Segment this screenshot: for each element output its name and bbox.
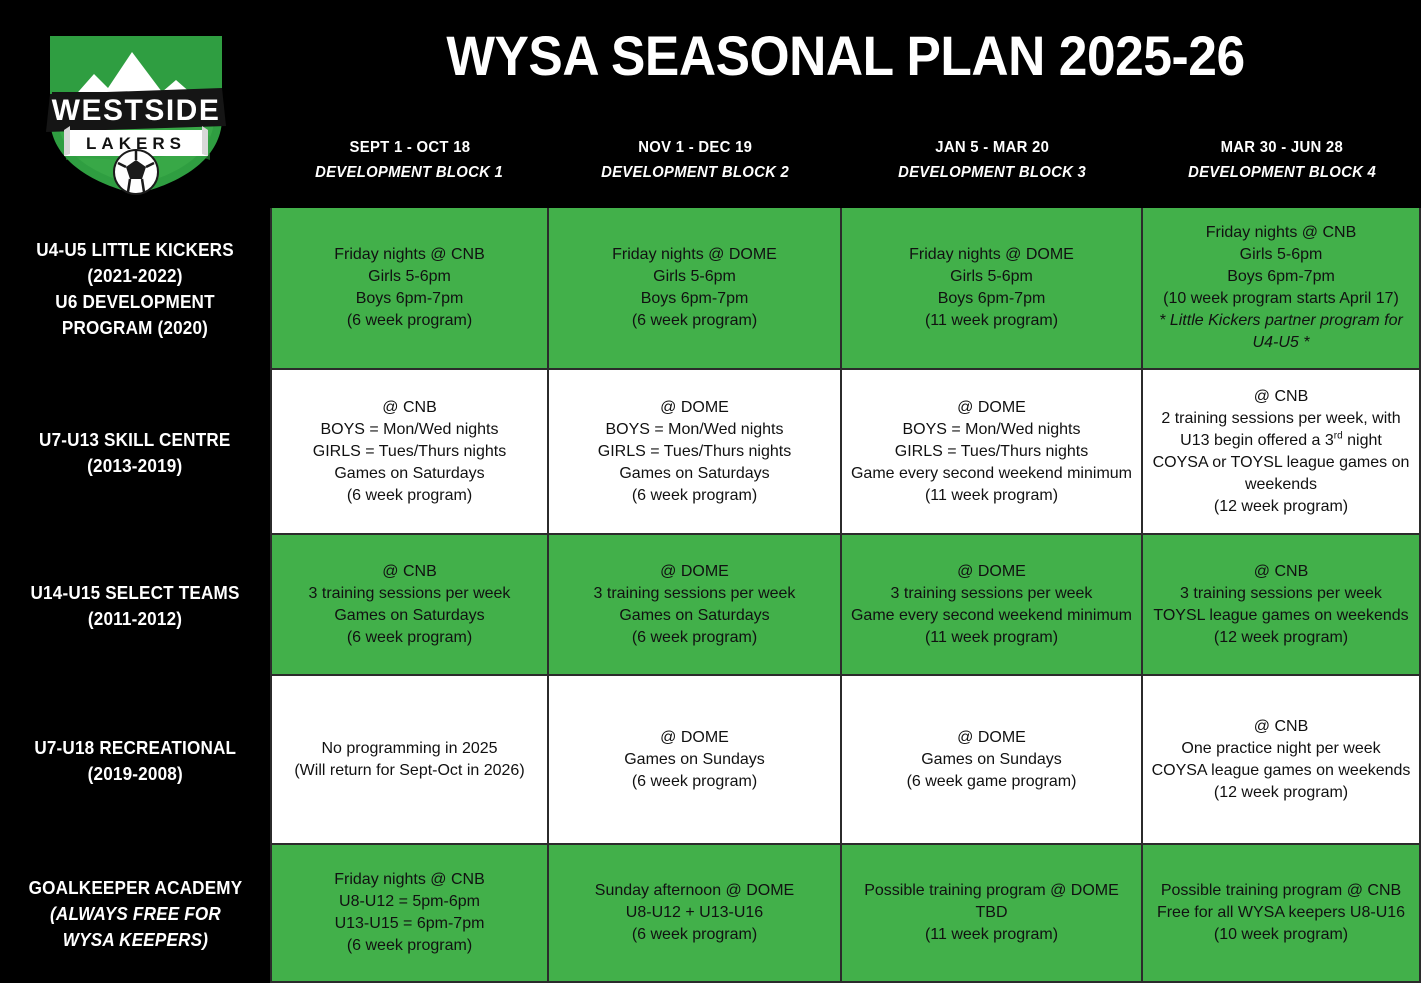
row-label-line: WYSA KEEPERS) (28, 927, 242, 953)
column-header-1: SEPT 1 - OCT 18 DEVELOPMENT BLOCK 1 (270, 138, 549, 200)
cell-line: (11 week program) (850, 485, 1133, 507)
cell-r2-c1: @ CNBBOYS = Mon/Wed nightsGIRLS = Tues/T… (270, 370, 549, 535)
cell-r3-c4: @ CNB3 training sessions per weekTOYSL l… (1143, 535, 1421, 676)
cell-line: Girls 5-6pm (1151, 244, 1411, 266)
cell-line: Friday nights @ CNB (280, 869, 539, 891)
cell-line: Game every second weekend minimum (850, 463, 1133, 485)
cell-r5-c4: Possible training program @ CNBFree for … (1143, 845, 1421, 983)
cell-line: Girls 5-6pm (280, 266, 539, 288)
cell-line: BOYS = Mon/Wed nights (557, 419, 832, 441)
cell-line: Game every second weekend minimum (850, 605, 1133, 627)
cell-line: (12 week program) (1151, 627, 1411, 649)
cell-r4-c2: @ DOMEGames on Sundays(6 week program) (549, 676, 842, 845)
row-label-1: U4-U5 LITTLE KICKERS(2021-2022)U6 DEVELO… (0, 208, 270, 370)
cell-line: @ DOME (850, 561, 1133, 583)
cell-r3-c2: @ DOME3 training sessions per weekGames … (549, 535, 842, 676)
cell-line: Girls 5-6pm (557, 266, 832, 288)
cell-line: COYSA or TOYSL league games on weekends (1151, 452, 1411, 496)
cell-line: Games on Sundays (850, 749, 1133, 771)
cell-line: TOYSL league games on weekends (1151, 605, 1411, 627)
cell-line: Possible training program @ DOME (850, 880, 1133, 902)
cell-line: GIRLS = Tues/Thurs nights (850, 441, 1133, 463)
seasonal-plan-grid: U4-U5 LITTLE KICKERS(2021-2022)U6 DEVELO… (0, 208, 1421, 983)
column-headers: SEPT 1 - OCT 18 DEVELOPMENT BLOCK 1 NOV … (270, 138, 1421, 200)
cell-line: 3 training sessions per week (1151, 583, 1411, 605)
cell-line: (6 week program) (557, 485, 832, 507)
cell-r2-c3: @ DOMEBOYS = Mon/Wed nightsGIRLS = Tues/… (842, 370, 1143, 535)
row-label-line: U7-U13 SKILL CENTRE (39, 427, 230, 453)
cell-line: Friday nights @ CNB (280, 244, 539, 266)
cell-r2-c2: @ DOMEBOYS = Mon/Wed nightsGIRLS = Tues/… (549, 370, 842, 535)
cell-line: Games on Saturdays (557, 463, 832, 485)
cell-line: Possible training program @ CNB (1151, 880, 1411, 902)
cell-line: @ CNB (1151, 386, 1411, 408)
cell-line: One practice night per week (1151, 738, 1411, 760)
cell-r1-c4: Friday nights @ CNBGirls 5-6pmBoys 6pm-7… (1143, 208, 1421, 370)
cell-line: No programming in 2025 (280, 738, 539, 760)
cell-line: Games on Sundays (557, 749, 832, 771)
cell-line: Games on Saturdays (280, 463, 539, 485)
cell-line: U8-U12 = 5pm-6pm (280, 891, 539, 913)
cell-line: BOYS = Mon/Wed nights (280, 419, 539, 441)
cell-line: (11 week program) (850, 627, 1133, 649)
cell-line: (6 week game program) (850, 771, 1133, 793)
cell-line: Boys 6pm-7pm (557, 288, 832, 310)
row-label-line: U4-U5 LITTLE KICKERS (36, 237, 234, 263)
cell-line: (6 week program) (557, 627, 832, 649)
cell-line: Friday nights @ DOME (557, 244, 832, 266)
cell-r5-c1: Friday nights @ CNBU8-U12 = 5pm-6pmU13-U… (270, 845, 549, 983)
cell-line: @ DOME (850, 727, 1133, 749)
cell-line: (10 week program) (1151, 924, 1411, 946)
row-label-4: U7-U18 RECREATIONAL(2019-2008) (0, 676, 270, 845)
cell-line: @ CNB (280, 561, 539, 583)
cell-line: Games on Saturdays (280, 605, 539, 627)
cell-r5-c3: Possible training program @ DOMETBD(11 w… (842, 845, 1143, 983)
cell-r4-c4: @ CNBOne practice night per weekCOYSA le… (1143, 676, 1421, 845)
cell-r1-c1: Friday nights @ CNBGirls 5-6pmBoys 6pm-7… (270, 208, 549, 370)
cell-line: Free for all WYSA keepers U8-U16 (1151, 902, 1411, 924)
seasonal-plan-poster: WESTSIDE LAKERS WYSA SEASONAL PLAN 2025-… (0, 0, 1421, 983)
row-label-5: GOALKEEPER ACADEMY(ALWAYS FREE FORWYSA K… (0, 845, 270, 983)
row-label-line: (ALWAYS FREE FOR (28, 901, 242, 927)
cell-line: 3 training sessions per week (557, 583, 832, 605)
row-label-line: U14-U15 SELECT TEAMS (30, 580, 239, 606)
cell-line: (6 week program) (280, 935, 539, 957)
cell-line: @ CNB (1151, 561, 1411, 583)
cell-line: Sunday afternoon @ DOME (557, 880, 832, 902)
row-label-line: (2021-2022) (36, 263, 234, 289)
cell-line: 3 training sessions per week (280, 583, 539, 605)
cell-line: @ DOME (557, 727, 832, 749)
page-title: WYSA SEASONAL PLAN 2025-26 (316, 24, 1375, 88)
soccer-ball-icon (114, 150, 158, 194)
westside-lakers-logo: WESTSIDE LAKERS (36, 22, 236, 198)
cell-r4-c3: @ DOMEGames on Sundays(6 week game progr… (842, 676, 1143, 845)
cell-line: @ DOME (850, 397, 1133, 419)
cell-line: U13-U15 = 6pm-7pm (280, 913, 539, 935)
cell-line: GIRLS = Tues/Thurs nights (557, 441, 832, 463)
cell-line: BOYS = Mon/Wed nights (850, 419, 1133, 441)
cell-line: GIRLS = Tues/Thurs nights (280, 441, 539, 463)
cell-line: (12 week program) (1151, 496, 1411, 518)
cell-line: 3 training sessions per week (850, 583, 1133, 605)
cell-r4-c1: No programming in 2025(Will return for S… (270, 676, 549, 845)
column-dates: NOV 1 - DEC 19 (639, 138, 753, 158)
cell-line: Games on Saturdays (557, 605, 832, 627)
cell-r2-c4: @ CNB2 training sessions per week, withU… (1143, 370, 1421, 535)
cell-line: (11 week program) (850, 924, 1133, 946)
cell-line: Boys 6pm-7pm (1151, 266, 1411, 288)
cell-line: Friday nights @ DOME (850, 244, 1133, 266)
cell-line: (10 week program starts April 17) (1151, 288, 1411, 310)
column-dates: MAR 30 - JUN 28 (1221, 138, 1343, 158)
row-label-line: U7-U18 RECREATIONAL (34, 735, 236, 761)
column-header-4: MAR 30 - JUN 28 DEVELOPMENT BLOCK 4 (1143, 138, 1421, 200)
cell-line-italic: * Little Kickers partner program for U4-… (1151, 310, 1411, 354)
column-block-label: DEVELOPMENT BLOCK 2 (601, 163, 789, 183)
cell-line: @ DOME (557, 561, 832, 583)
cell-line: (6 week program) (280, 310, 539, 332)
row-label-line: GOALKEEPER ACADEMY (28, 875, 242, 901)
cell-line: TBD (850, 902, 1133, 924)
cell-line: @ CNB (280, 397, 539, 419)
cell-line: (6 week program) (557, 924, 832, 946)
column-block-label: DEVELOPMENT BLOCK 4 (1188, 163, 1376, 183)
row-label-line: U6 DEVELOPMENT (36, 289, 234, 315)
cell-line: (6 week program) (557, 771, 832, 793)
column-dates: SEPT 1 - OCT 18 (349, 138, 470, 158)
cell-r3-c3: @ DOME3 training sessions per weekGame e… (842, 535, 1143, 676)
column-block-label: DEVELOPMENT BLOCK 1 (315, 163, 503, 183)
logo-westside-text: WESTSIDE (52, 94, 221, 127)
cell-line: U13 begin offered a 3rd night (1151, 430, 1411, 452)
cell-line: @ DOME (557, 397, 832, 419)
cell-line: COYSA league games on weekends (1151, 760, 1411, 782)
cell-line: Friday nights @ CNB (1151, 222, 1411, 244)
row-label-line: (2019-2008) (34, 761, 236, 787)
cell-r1-c2: Friday nights @ DOMEGirls 5-6pmBoys 6pm-… (549, 208, 842, 370)
cell-line: 2 training sessions per week, with (1151, 408, 1411, 430)
cell-r3-c1: @ CNB3 training sessions per weekGames o… (270, 535, 549, 676)
row-label-2: U7-U13 SKILL CENTRE(2013-2019) (0, 370, 270, 535)
column-dates: JAN 5 - MAR 20 (936, 138, 1050, 158)
row-label-line: PROGRAM (2020) (36, 315, 234, 341)
cell-line: (Will return for Sept-Oct in 2026) (280, 760, 539, 782)
logo-shield-icon: WESTSIDE LAKERS (36, 22, 236, 198)
column-header-3: JAN 5 - MAR 20 DEVELOPMENT BLOCK 3 (842, 138, 1143, 200)
cell-line: U8-U12 + U13-U16 (557, 902, 832, 924)
cell-line: (6 week program) (280, 485, 539, 507)
cell-line: (11 week program) (850, 310, 1133, 332)
row-label-3: U14-U15 SELECT TEAMS(2011-2012) (0, 535, 270, 676)
column-block-label: DEVELOPMENT BLOCK 3 (898, 163, 1086, 183)
cell-line: @ CNB (1151, 716, 1411, 738)
cell-line: (12 week program) (1151, 782, 1411, 804)
cell-line: Boys 6pm-7pm (850, 288, 1133, 310)
row-label-line: (2013-2019) (39, 453, 230, 479)
cell-r1-c3: Friday nights @ DOMEGirls 5-6pmBoys 6pm-… (842, 208, 1143, 370)
cell-line: (6 week program) (280, 627, 539, 649)
cell-r5-c2: Sunday afternoon @ DOMEU8-U12 + U13-U16(… (549, 845, 842, 983)
cell-line: Boys 6pm-7pm (280, 288, 539, 310)
cell-line: Girls 5-6pm (850, 266, 1133, 288)
row-label-line: (2011-2012) (30, 606, 239, 632)
column-header-2: NOV 1 - DEC 19 DEVELOPMENT BLOCK 2 (549, 138, 842, 200)
cell-line: (6 week program) (557, 310, 832, 332)
